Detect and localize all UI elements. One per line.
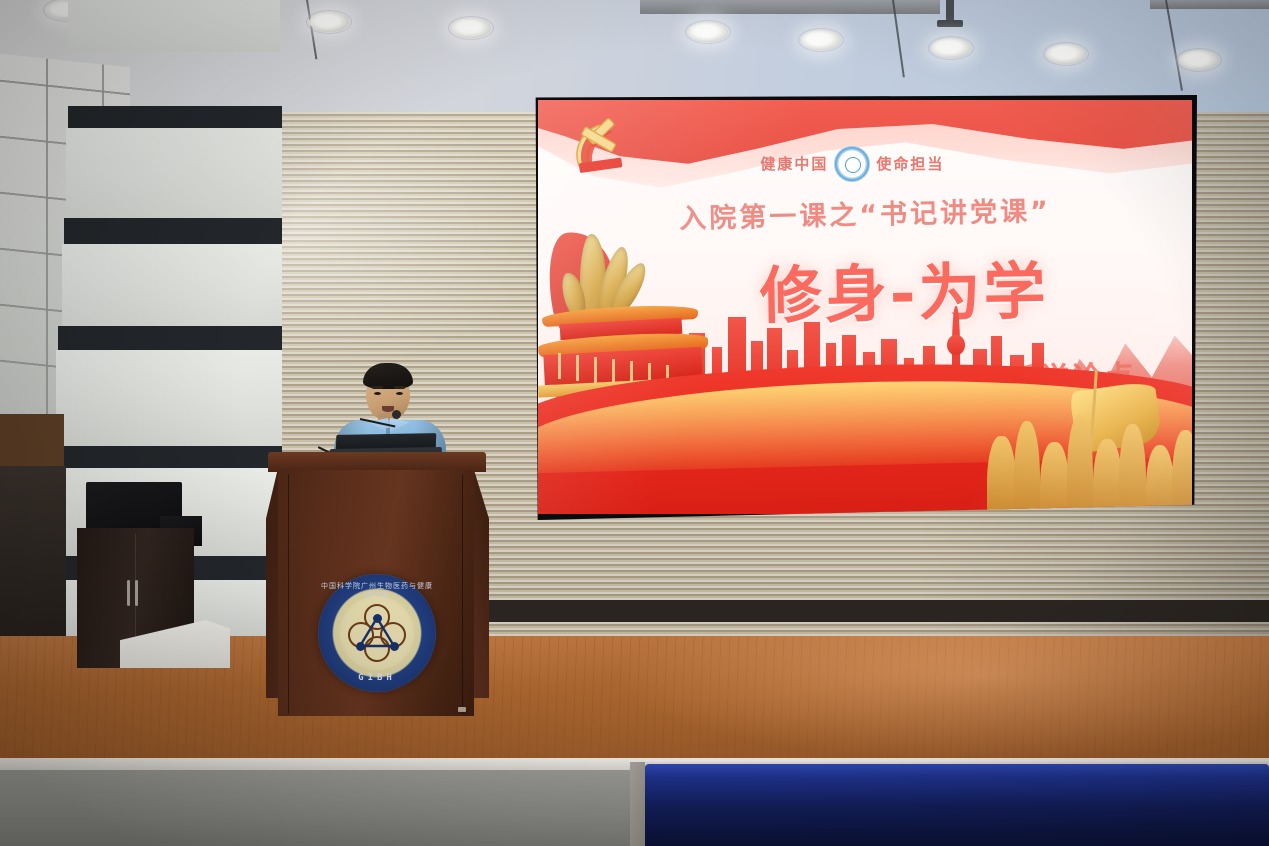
projector-mount (946, 0, 954, 22)
monument-figure (1146, 445, 1175, 514)
downlight (1179, 50, 1219, 70)
cabinet-handle[interactable] (127, 580, 130, 606)
downlight (309, 12, 349, 32)
health-china-badge-icon (834, 146, 870, 182)
speaker-eye (374, 392, 381, 395)
speaker-hair (363, 363, 413, 389)
emblem-flower-mark (348, 604, 406, 662)
podium: 中国科学院广州生物医药与健康研究院 GIBH (266, 452, 488, 730)
speaker-eyebrow (372, 386, 383, 389)
monument-figure (987, 436, 1016, 514)
tv-tower-sphere (947, 335, 964, 355)
monument-figure (1040, 442, 1069, 514)
monument-figure (1014, 421, 1040, 514)
podium-seam (288, 474, 289, 714)
downlight (688, 22, 728, 42)
slide-line1: 入院第一课之“书记讲党课” (679, 189, 1051, 236)
gate-column (594, 357, 597, 383)
cabinet-handle[interactable] (135, 580, 138, 606)
podium-top-surface (268, 452, 486, 472)
wall-panel (66, 128, 282, 226)
health-china-badge-row: 健康中国 使命担当 (760, 146, 944, 182)
downlight (1046, 44, 1086, 64)
wall-band (52, 446, 282, 468)
emblem-acronym: GIBH (358, 673, 396, 683)
party-emblem-icon (559, 112, 637, 182)
ceiling-support-rod (1165, 0, 1183, 91)
monument-figure (1119, 424, 1145, 514)
led-display-screen[interactable]: 健康中国 使命担当 入院第一课之“书记讲党课” 修身-为学 ——中国古代文学中的… (533, 95, 1197, 520)
wall-band (64, 218, 282, 244)
emblem-node (390, 642, 399, 651)
gate-column (558, 353, 561, 379)
emblem-node (356, 642, 365, 651)
podium-seam (462, 474, 463, 714)
speaker-eyebrow (394, 386, 405, 389)
monument-figure (1172, 430, 1192, 514)
wall-panel (56, 350, 282, 454)
downlight (931, 38, 971, 58)
golden-monument-sculpture (979, 364, 1192, 514)
monument-figure (1093, 439, 1122, 514)
institute-emblem: 中国科学院广州生物医药与健康研究院 GIBH (318, 574, 436, 692)
wall-band (68, 106, 282, 128)
microphone-capsule (392, 410, 401, 419)
speaker-eye (396, 392, 403, 395)
podium-latch (458, 707, 466, 712)
auditorium-scene: 健康中国 使命担当 入院第一课之“书记讲党课” 修身-为学 ——中国古代文学中的… (0, 0, 1269, 846)
wall-panel (62, 244, 282, 338)
downlight (451, 18, 491, 38)
foreground-chair-back[interactable] (645, 764, 1269, 846)
monument-figure (1067, 415, 1093, 514)
left-wall-floor-edge (0, 414, 64, 466)
badge-right-text: 使命担当 (876, 153, 944, 174)
badge-left-text: 健康中国 (760, 153, 828, 174)
wall-band (58, 326, 282, 350)
downlight (801, 30, 841, 50)
gate-column (576, 355, 579, 381)
emblem-node (373, 614, 382, 623)
wall-panel (68, 0, 280, 52)
slide-canvas: 健康中国 使命担当 入院第一课之“书记讲党课” 修身-为学 ——中国古代文学中的… (538, 100, 1192, 514)
